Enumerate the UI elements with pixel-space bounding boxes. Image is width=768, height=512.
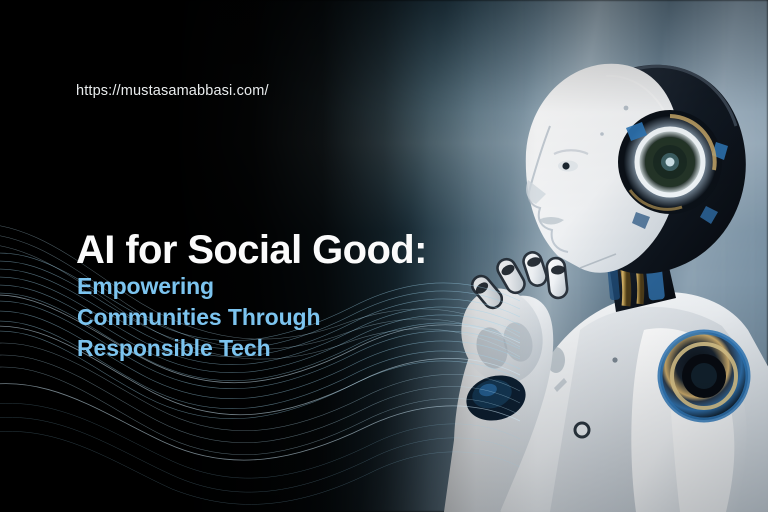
hero-banner: https://mustasamabbasi.com/ AI for Socia… <box>0 0 768 512</box>
page-subtitle: Empowering Communities Through Responsib… <box>77 271 320 364</box>
subtitle-line-3: Responsible Tech <box>77 333 320 364</box>
subtitle-line-1: Empowering <box>77 271 320 302</box>
thinking-robot-image <box>430 30 768 512</box>
page-title: AI for Social Good: <box>76 228 427 273</box>
subtitle-line-2: Communities Through <box>77 302 320 333</box>
site-url[interactable]: https://mustasamabbasi.com/ <box>76 83 269 99</box>
